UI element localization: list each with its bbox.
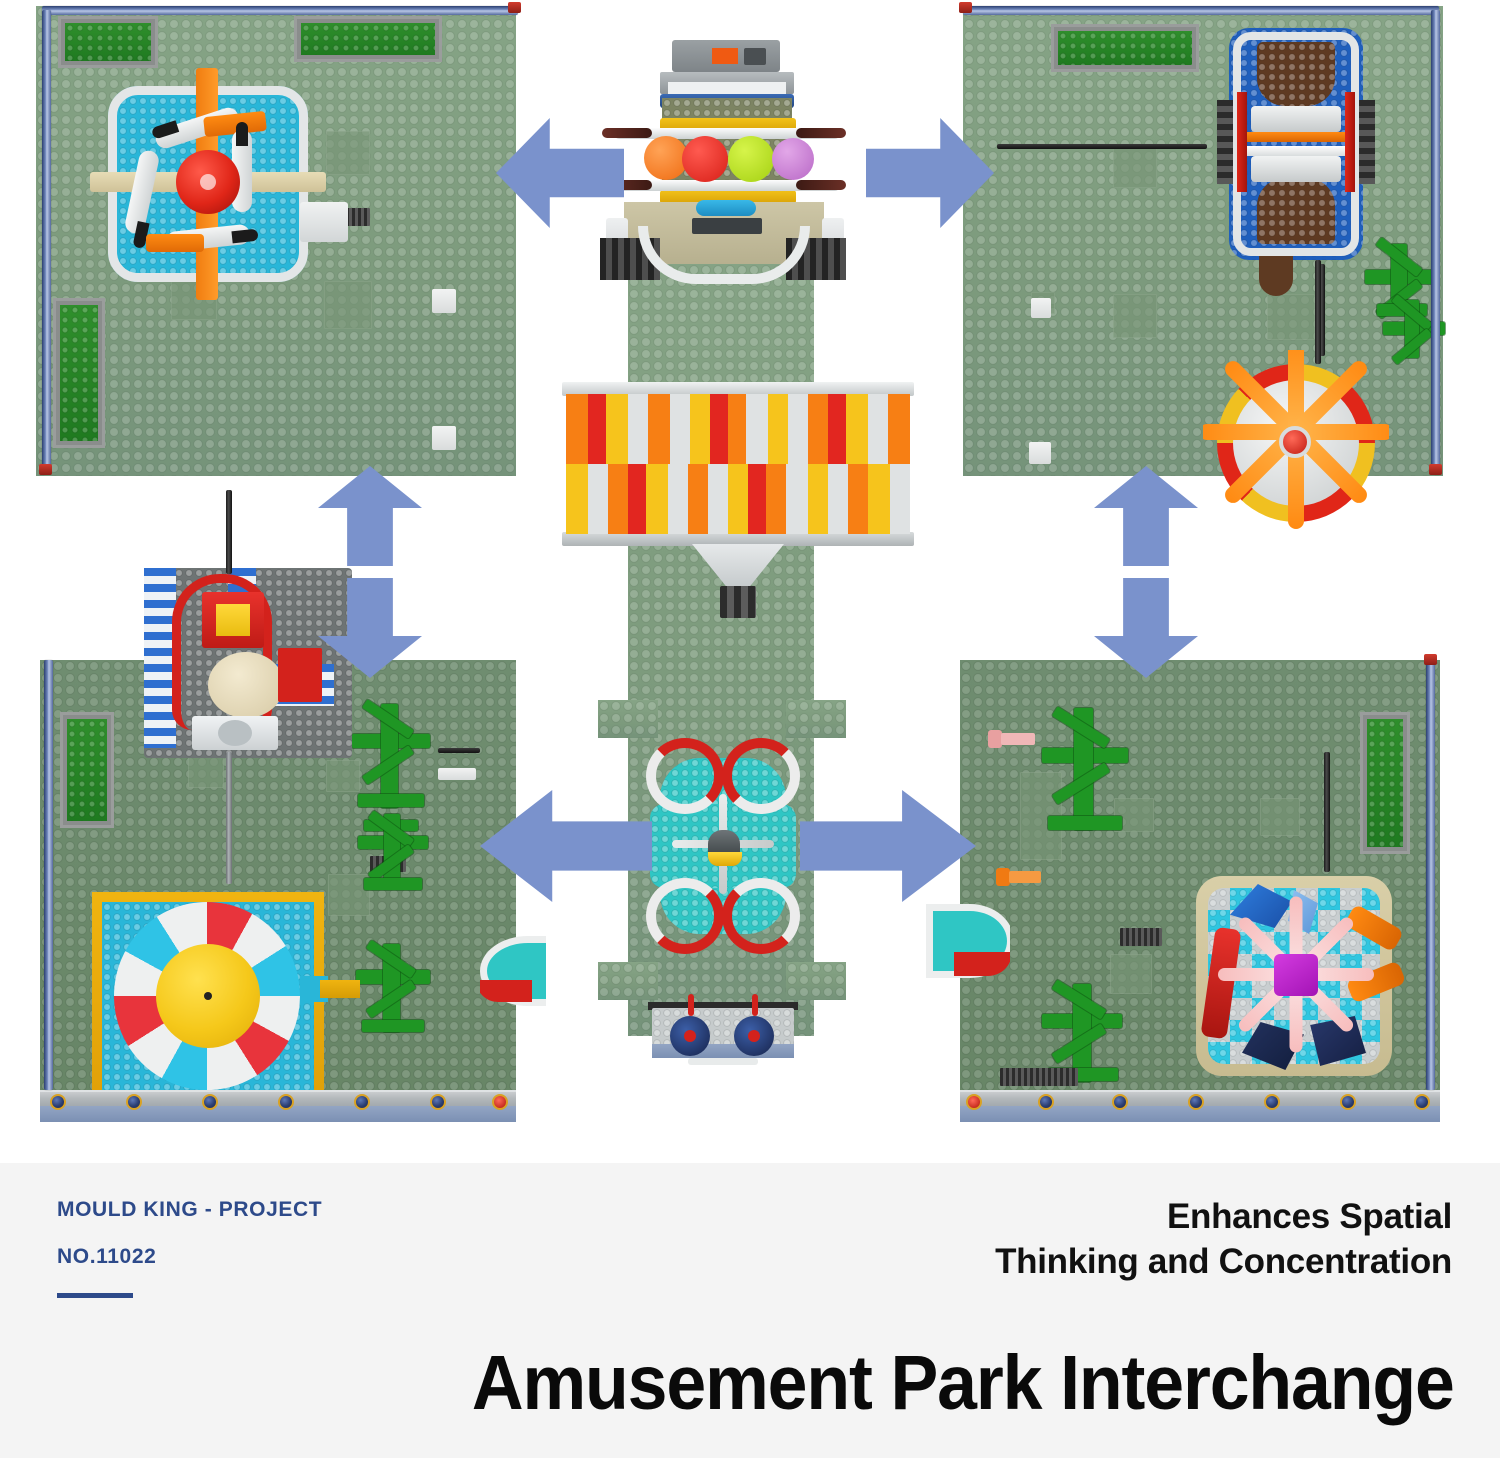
center-spine-wing [598,962,658,1000]
fence-rail [42,10,51,472]
brand-block: MOULD KING - PROJECT NO.11022 [57,1199,322,1298]
white-tile [1029,442,1051,464]
ride-pirate-ship [1229,28,1363,260]
module-balloon-wheel-machine [586,40,856,290]
white-tile [432,426,456,450]
splash-pool-edge [480,936,546,1006]
fence-post [1414,1094,1430,1110]
fence-post [126,1094,142,1110]
pavement-tile [328,874,370,916]
hedge-plot [60,712,114,828]
entry-car [648,1002,798,1064]
pavement-tile [326,760,360,792]
brand-label: MOULD KING - PROJECT [57,1199,322,1220]
pavement-tile [1113,148,1157,188]
pavement-tile [1110,954,1152,994]
quadrant-top-left [36,6,516,476]
handrail-pipe [997,144,1207,149]
display-plinth-base [40,1106,516,1122]
grate [1120,928,1162,946]
hedge-plot [294,16,442,62]
fence-cap [1424,654,1437,665]
hedge-plot [53,298,105,448]
hedge-plot [1051,24,1199,72]
center-spine-wing [786,700,846,738]
handrail-pipe [438,748,480,753]
fence-post [1264,1094,1280,1110]
balloon-disc-lime [728,136,774,182]
fence-post [50,1094,66,1110]
white-tile [432,289,456,313]
fence-rail [42,6,518,15]
grate [1000,1068,1078,1086]
white-tile [1031,298,1051,318]
balloon-disc-purple [772,138,814,180]
fence-post [492,1094,508,1110]
fence-post [1188,1094,1204,1110]
pavement-tile [326,131,370,175]
ride-coaster-building [144,568,352,758]
lamp-post [1324,752,1330,872]
pavement-tile [1113,294,1157,338]
quadrant-top-right [963,6,1443,476]
center-spine-wing [786,962,846,1000]
balloon-disc-red [682,136,728,182]
hedge-plot [1360,712,1410,854]
fence-cap [508,2,521,13]
fence-cap [39,464,52,475]
fence-rail [1426,660,1435,1090]
fence-post [430,1094,446,1110]
pavement-tile [1020,772,1062,860]
pavement-tile [1267,294,1315,340]
footer-band: MOULD KING - PROJECT NO.11022 Enhances S… [0,1163,1500,1458]
ride-rocket-plane-carousel [108,86,308,282]
splash-pool-edge [926,904,1010,978]
tagline-line-1: Enhances Spatial [995,1195,1452,1240]
fence-rail [44,660,53,1090]
fence-post [1038,1094,1054,1110]
fence-post [202,1094,218,1110]
product-title: Amusement Park Interchange [472,1345,1454,1422]
minifigure [988,730,1036,748]
pavement-tile [1114,798,1154,832]
fence-rail [1431,10,1440,472]
quadrant-bottom-right [960,660,1440,1112]
fence-cap [1429,464,1442,475]
white-tile [438,768,476,780]
quadrant-bottom-left [40,660,516,1112]
ride-merry-go-round [92,892,324,1100]
tagline-line-2: Thinking and Concentration [995,1240,1452,1285]
grate [370,856,406,872]
product-photo-stage [0,0,1500,1163]
ride-octopus-spinner [1196,876,1392,1076]
brand-divider-rule [57,1293,133,1298]
fence-post [966,1094,982,1110]
tagline-block: Enhances Spatial Thinking and Concentrat… [995,1195,1452,1285]
fence-rail [963,6,1439,15]
module-striped-canopy-pavilion [562,382,914,560]
model-number-label: NO.11022 [57,1246,322,1267]
module-water-splash-pool [650,738,796,954]
hedge-plot [58,16,158,68]
ride-ferris-wheel [1203,350,1389,534]
fence-cap [959,2,972,13]
fence-post [354,1094,370,1110]
pavement-tile [1260,798,1300,836]
arrow-left-up [318,466,422,566]
fence-post [1340,1094,1356,1110]
arrow-right-up [1094,466,1198,566]
minifigure [996,868,1042,886]
center-spine-wing [598,700,658,738]
arrow-center-bottom-right [800,790,976,902]
pavement-tile [324,281,372,329]
fence-post [1112,1094,1128,1110]
fence-post [278,1094,294,1110]
